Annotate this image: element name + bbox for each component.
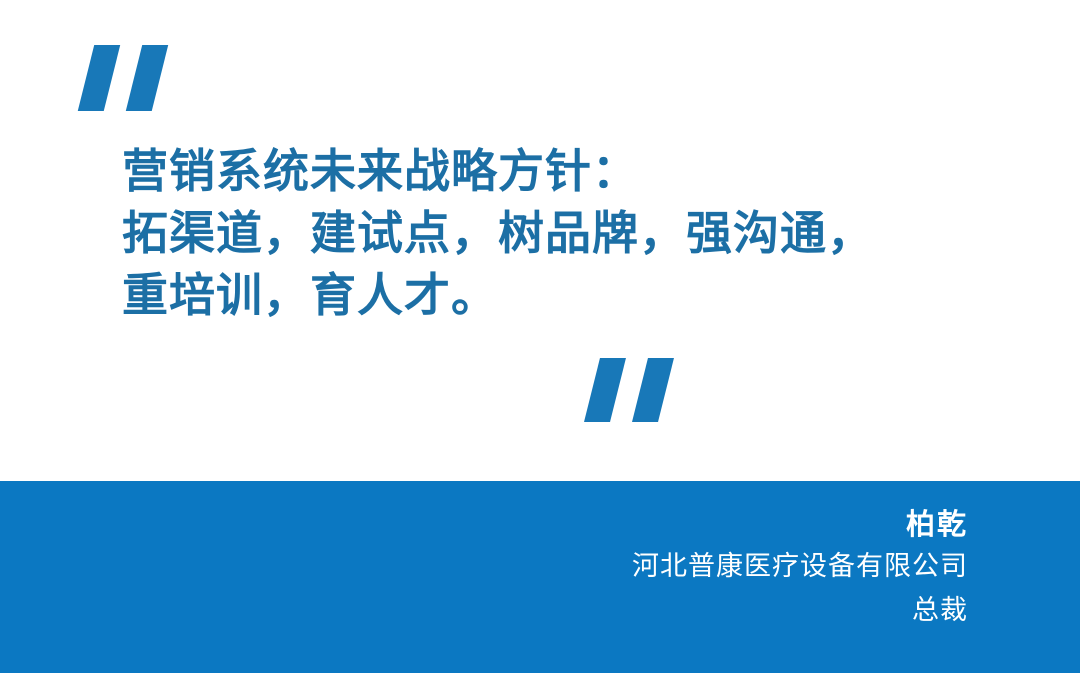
quote-line-3: 重培训，育人才。 xyxy=(122,264,1022,326)
closing-quote-bar-2 xyxy=(632,358,674,422)
closing-quote-icon xyxy=(592,358,676,422)
opening-quote-bar-2 xyxy=(126,45,168,111)
opening-quote-bar-1 xyxy=(78,45,120,111)
attribution-footer: 柏乾 河北普康医疗设备有限公司 总裁 xyxy=(0,481,1080,673)
attribution-name: 柏乾 xyxy=(632,503,968,545)
attribution-block: 柏乾 河北普康医疗设备有限公司 总裁 xyxy=(632,503,968,633)
closing-quote-bar-1 xyxy=(584,358,626,422)
attribution-title: 总裁 xyxy=(632,589,968,633)
quote-line-1: 营销系统未来战略方针： xyxy=(122,140,1022,202)
attribution-company: 河北普康医疗设备有限公司 xyxy=(632,545,968,589)
opening-quote-icon xyxy=(86,45,170,111)
quote-line-2: 拓渠道，建试点，树品牌，强沟通， xyxy=(122,202,1022,264)
quote-text-block: 营销系统未来战略方针： 拓渠道，建试点，树品牌，强沟通， 重培训，育人才。 xyxy=(122,140,1022,326)
quote-slide: 营销系统未来战略方针： 拓渠道，建试点，树品牌，强沟通， 重培训，育人才。 柏乾… xyxy=(0,0,1080,673)
